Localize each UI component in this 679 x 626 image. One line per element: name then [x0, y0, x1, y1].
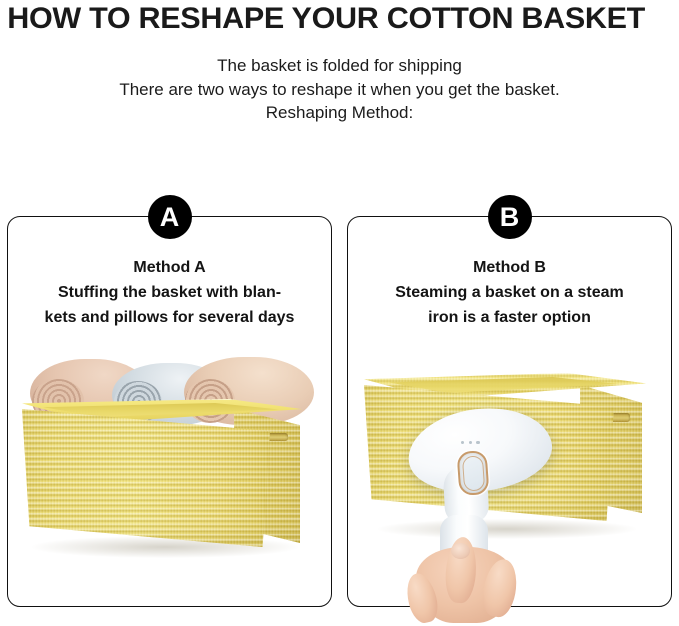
method-b-description-line-2: iron is a faster option	[348, 305, 671, 330]
method-badge-b: B	[488, 195, 532, 239]
steamer-led-1	[461, 441, 464, 444]
page-title: HOW TO RESHAPE YOUR COTTON BASKET	[0, 0, 679, 36]
method-b-title: Method B	[348, 255, 671, 280]
subtitle-line-3: Reshaping Method:	[0, 101, 679, 125]
basket-a-front-wall	[22, 409, 270, 547]
subtitle-block: The basket is folded for shipping There …	[0, 54, 679, 125]
method-card-a[interactable]: A Method A Stuffing the basket with blan…	[7, 216, 332, 607]
methods-container: A Method A Stuffing the basket with blan…	[0, 216, 679, 611]
method-b-photo	[348, 347, 671, 608]
method-a-description-line-2: kets and pillows for several days	[8, 305, 331, 330]
method-card-b[interactable]: B Method B Steaming a basket on a steam …	[347, 216, 672, 607]
steamer-power-button[interactable]	[457, 450, 490, 496]
subtitle-line-2: There are two ways to reshape it when yo…	[0, 78, 679, 102]
method-b-description-line-1: Steaming a basket on a steam	[348, 280, 671, 305]
method-a-text: Method A Stuffing the basket with blan- …	[8, 255, 331, 330]
subtitle-line-1: The basket is folded for shipping	[0, 54, 679, 78]
method-a-photo	[8, 347, 331, 608]
steamer-led-2	[469, 441, 472, 444]
thumb-nail	[451, 543, 470, 559]
basket-b-ground-shadow	[378, 519, 636, 539]
method-a-title: Method A	[8, 255, 331, 280]
method-b-text: Method B Steaming a basket on a steam ir…	[348, 255, 671, 330]
method-a-description-line-1: Stuffing the basket with blan-	[8, 280, 331, 305]
steamer-led-3	[476, 441, 479, 444]
method-badge-a: A	[148, 195, 192, 239]
steamer-indicator-lights	[461, 441, 480, 444]
